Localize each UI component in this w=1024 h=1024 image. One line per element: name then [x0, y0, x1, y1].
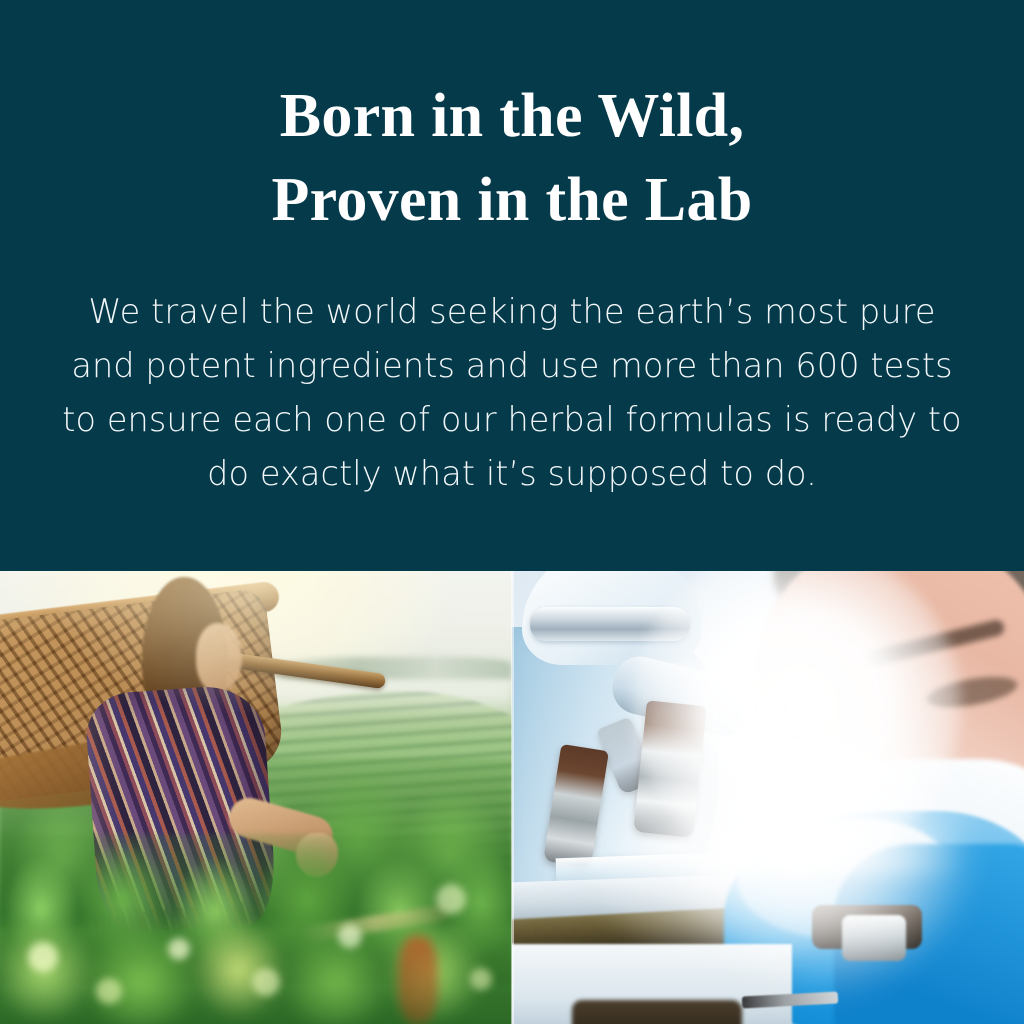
harvester-face [196, 623, 242, 693]
page-title: Born in the Wild, Proven in the Lab [62, 74, 962, 243]
photo-divider [511, 571, 514, 1024]
tea-harvester-photo [0, 571, 512, 1024]
rust-colored-leaf [398, 936, 438, 1024]
microscope-base-shadow [572, 1000, 742, 1024]
marketing-graphic: Born in the Wild, Proven in the Lab We t… [0, 0, 1024, 1024]
backlight-glow-secondary [582, 751, 882, 971]
brand-message-panel: Born in the Wild, Proven in the Lab We t… [0, 0, 1024, 571]
body-copy: We travel the world seeking the earth’s … [62, 285, 962, 502]
laboratory-microscope-photo [512, 571, 1024, 1024]
